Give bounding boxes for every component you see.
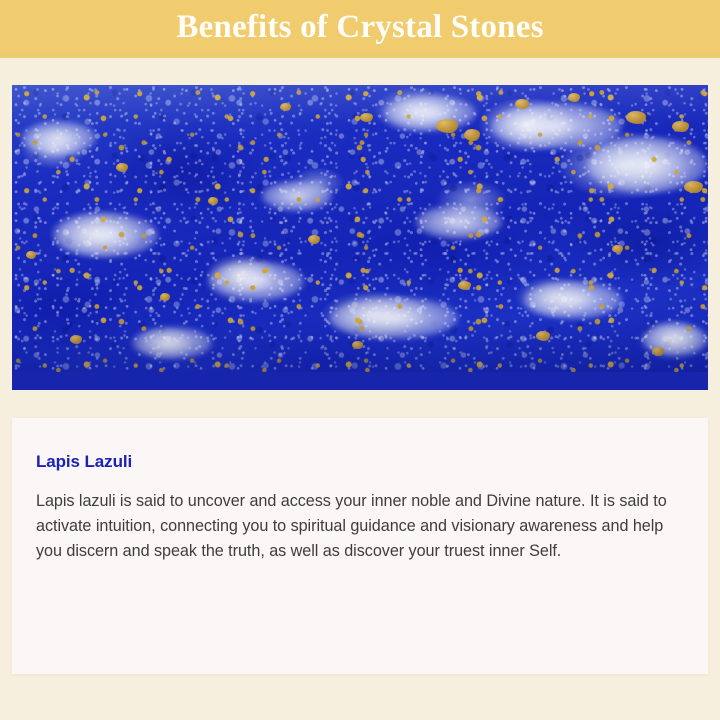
lapis-lazuli-texture xyxy=(12,85,708,372)
hero-bottom-band xyxy=(12,372,708,390)
header-banner: Benefits of Crystal Stones xyxy=(0,0,720,58)
page-title: Benefits of Crystal Stones xyxy=(176,11,543,47)
stone-info-card: Lapis Lazuli Lapis lazuli is said to unc… xyxy=(12,418,708,674)
stone-description: Lapis lazuli is said to uncover and acce… xyxy=(36,489,680,564)
hero-vignette xyxy=(12,85,708,372)
card-content: Lapis Lazuli Lapis lazuli is said to unc… xyxy=(12,418,708,564)
hero-image xyxy=(12,85,708,390)
stone-name-heading: Lapis Lazuli xyxy=(36,452,680,472)
page-root: Benefits of Crystal Stones xyxy=(0,0,720,720)
